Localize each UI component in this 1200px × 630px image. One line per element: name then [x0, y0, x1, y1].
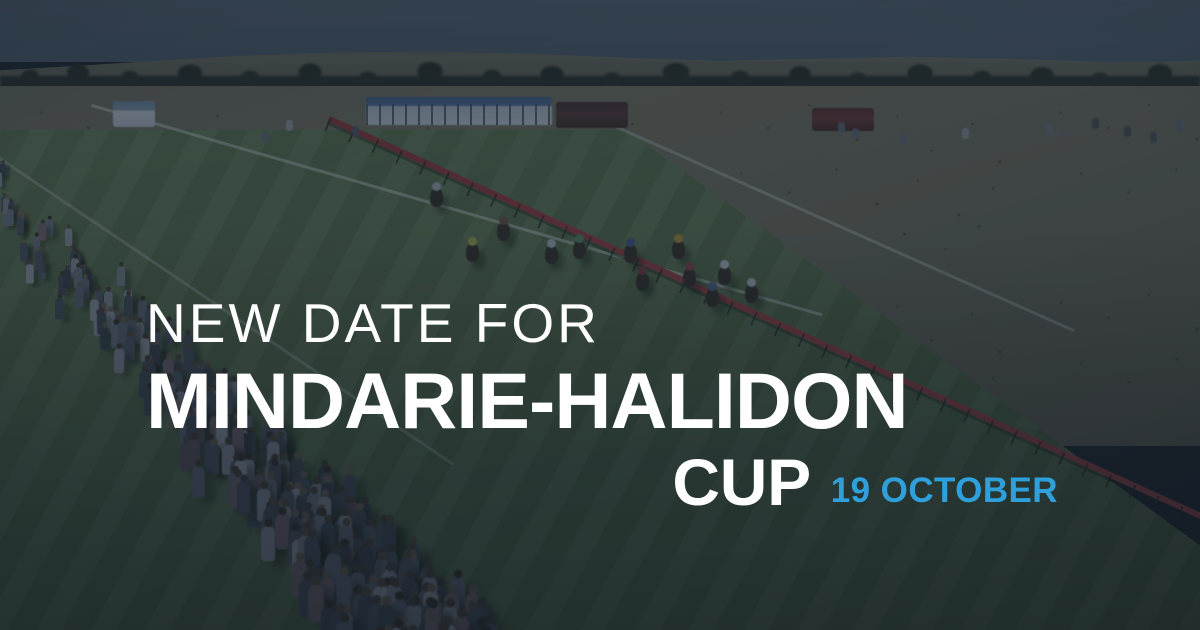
event-date: 19 OCTOBER: [831, 473, 1058, 508]
kicker-text: NEW DATE FOR: [146, 296, 1076, 351]
headline-block: NEW DATE FOR MINDARIE-HALIDON CUP 19 OCT…: [146, 296, 1076, 515]
event-subtitle: CUP: [672, 449, 810, 515]
event-title: MINDARIE-HALIDON: [146, 361, 1076, 440]
poster-banner: NEW DATE FOR MINDARIE-HALIDON CUP 19 OCT…: [0, 0, 1200, 630]
subtitle-row: CUP 19 OCTOBER: [146, 449, 1058, 515]
